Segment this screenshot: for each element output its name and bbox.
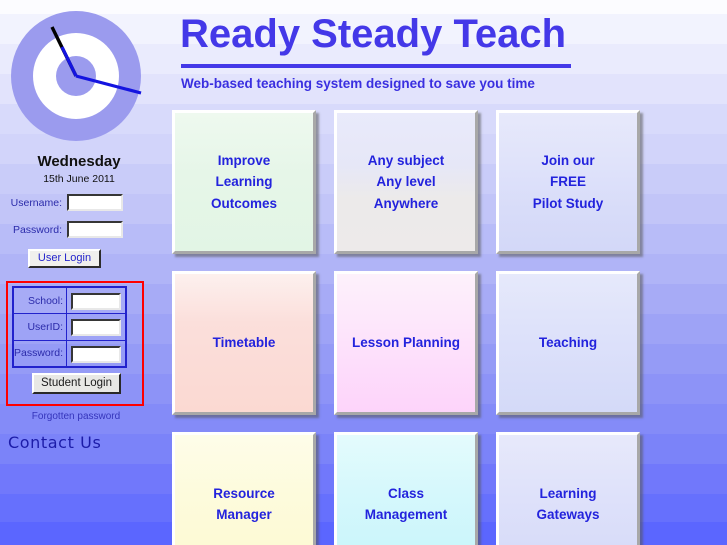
tile-join-free-pilot-study[interactable]: Join our FREE Pilot Study <box>496 110 640 254</box>
tile-grid: Improve Learning OutcomesAny subject Any… <box>0 0 727 545</box>
tile-teaching[interactable]: Teaching <box>496 271 640 415</box>
tile-label: Lesson Planning <box>352 332 460 354</box>
tile-label: Learning Gateways <box>536 483 599 526</box>
tile-any-subject-any-level[interactable]: Any subject Any level Anywhere <box>334 110 478 254</box>
tile-label: Timetable <box>213 332 276 354</box>
page-root: Wednesday 15th June 2011 Username: Passw… <box>0 0 727 545</box>
tile-resource-manager[interactable]: Resource Manager <box>172 432 316 545</box>
tile-class-management[interactable]: Class Management <box>334 432 478 545</box>
tile-learning-gateways[interactable]: Learning Gateways <box>496 432 640 545</box>
tile-label: Any subject Any level Anywhere <box>368 150 445 215</box>
tile-timetable[interactable]: Timetable <box>172 271 316 415</box>
tile-label: Join our FREE Pilot Study <box>533 150 604 215</box>
tile-lesson-planning[interactable]: Lesson Planning <box>334 271 478 415</box>
tile-label: Teaching <box>539 332 597 354</box>
tile-label: Improve Learning Outcomes <box>211 150 277 215</box>
tile-improve-learning-outcomes[interactable]: Improve Learning Outcomes <box>172 110 316 254</box>
tile-label: Class Management <box>365 483 448 526</box>
tile-label: Resource Manager <box>213 483 275 526</box>
